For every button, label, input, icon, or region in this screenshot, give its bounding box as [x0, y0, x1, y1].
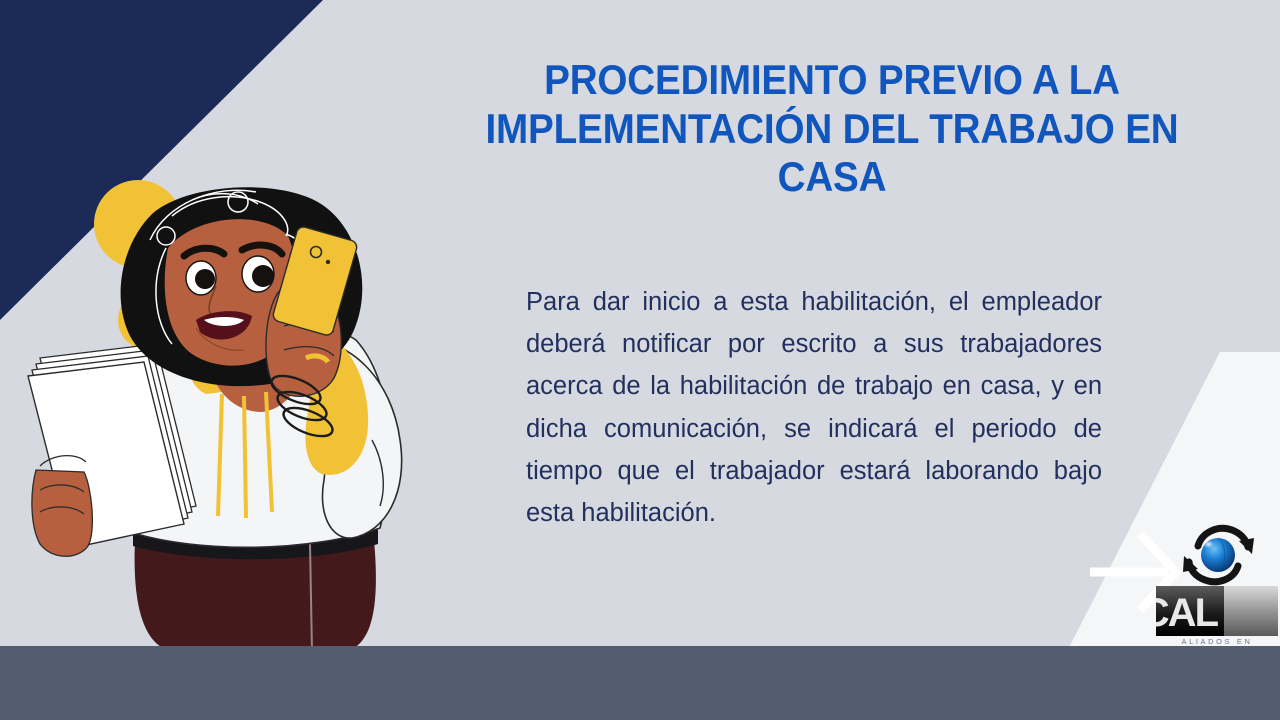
page-title: PROCEDIMIENTO PREVIO A LA IMPLEMENTACIÓN… [427, 56, 1237, 202]
body-block: Para dar inicio a esta habilitación, el … [526, 281, 1102, 534]
logo-sphere-arrows-icon [1180, 524, 1256, 586]
illustration-woman-on-phone [0, 140, 460, 650]
body-paragraph: Para dar inicio a esta habilitación, el … [526, 281, 1102, 534]
eye-left [186, 261, 216, 295]
eye-right [242, 256, 274, 292]
svg-text:ATCAL: ATCAL [1156, 591, 1219, 635]
presentation-slide: PROCEDIMIENTO PREVIO A LA IMPLEMENTACIÓN… [0, 0, 1280, 720]
logo-wordmark: ATCAL ATCAL [1156, 586, 1278, 636]
footer-bar [0, 646, 1280, 720]
title-block: PROCEDIMIENTO PREVIO A LA IMPLEMENTACIÓN… [392, 56, 1272, 202]
